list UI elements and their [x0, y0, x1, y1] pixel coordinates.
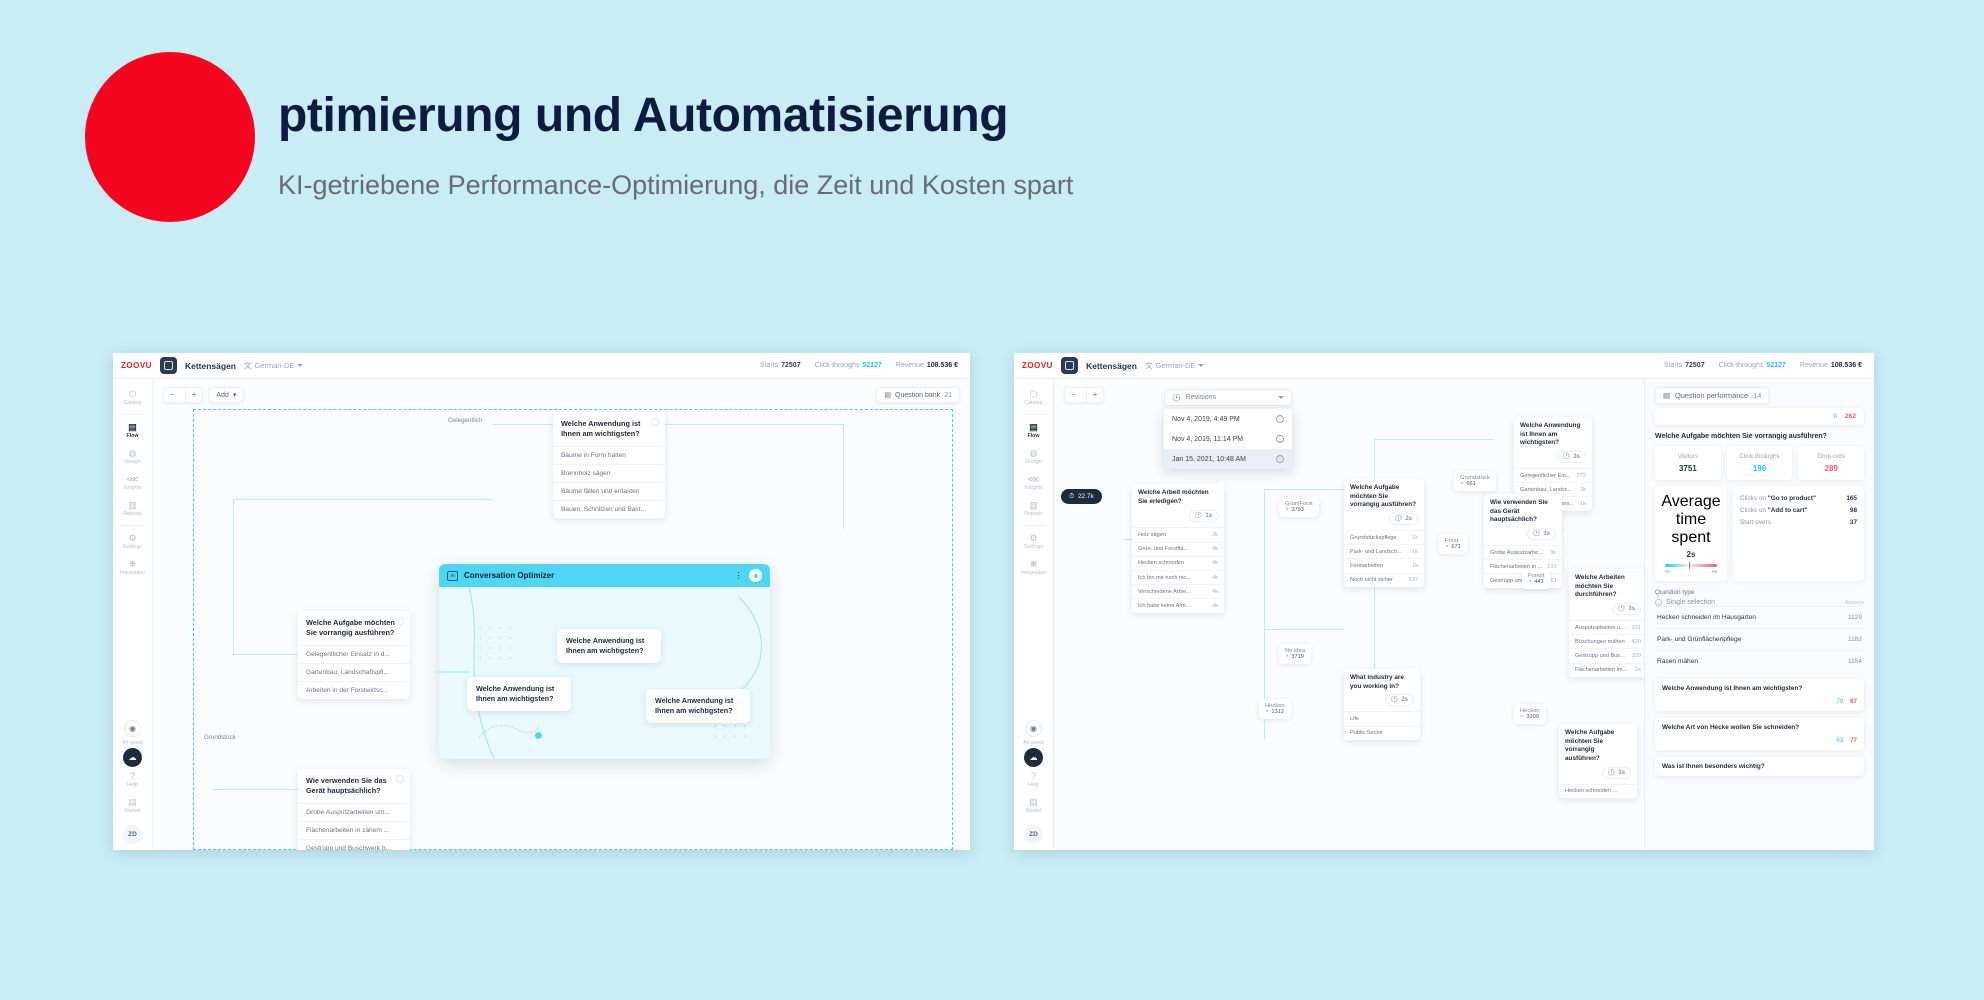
answer-row[interactable]: Bäume in Form halten [553, 446, 665, 464]
canvas-toolbar: − + Add ▾ [163, 387, 243, 403]
user-icon: ◔ [1460, 481, 1463, 487]
revision-item[interactable]: Nov 4, 2019, 4:49 PM i [1164, 409, 1292, 429]
sidebar-item-flow[interactable]: ▤ Flow [113, 418, 152, 444]
connector [493, 424, 843, 425]
answer-row[interactable]: Flächenarbeiten im...1k [1569, 663, 1647, 677]
answer-row[interactable]: Life [1344, 711, 1420, 725]
page-title: ptimierung und Automatisierung [278, 88, 1008, 143]
flow-node-grundstueck[interactable]: Grundstück ◔661 [1454, 471, 1496, 491]
answer-row[interactable]: Arbeiten in der Forstwirtsc... [298, 681, 410, 699]
sidebar-item-reports[interactable]: ▥ Reports [113, 496, 152, 522]
eye-icon: ◉ [129, 724, 136, 733]
question-performance-summary: 0 262 [1655, 408, 1864, 425]
time-badge: 🕐2s [1385, 694, 1414, 706]
sidebar-divider [1022, 414, 1046, 415]
conversation-optimizer-body: Welche Anwendung ist Ihnen am wichtigste… [439, 587, 770, 759]
conversation-optimizer-title: Conversation Optimizer [464, 571, 554, 580]
project-name: Kettensägen [1086, 361, 1137, 371]
user-icon: ◔ [1285, 507, 1288, 513]
conversation-optimizer-panel[interactable]: AI Conversation Optimizer ⋮ [439, 564, 770, 759]
answer-row[interactable]: Gestrüpp und Bus...320 [1569, 648, 1647, 662]
radio-icon [1655, 599, 1662, 606]
revisions-dropdown[interactable]: 🕐 Revisions Nov 4, 2019, 4:49 PM i Nov 4… [1164, 389, 1292, 469]
topbar-metrics: Starts72507 Click-throughs52127 Revenue1… [760, 362, 962, 369]
answer-row[interactable]: Gartenbau, Landschaftspfl... [298, 663, 410, 681]
left-sidebar: ⬡ Catalog ▤ Flow ◍ Design ⋘ Insights ▥ [113, 379, 153, 850]
chevron-down-icon [297, 364, 303, 367]
question-perf-card[interactable]: Welche Anwendung ist Ihnen am wichtigste… [1655, 679, 1864, 711]
sidebar-item-catalog[interactable]: ⬡ Catalog [1014, 385, 1053, 411]
click-row: Clicks on "Add to cart" 98 [1740, 504, 1857, 516]
flow-card-arbeiten[interactable]: Welche Arbeiten möchten Sie durchführen?… [1569, 569, 1647, 677]
zoom-in-button[interactable]: + [1086, 387, 1104, 403]
page-subtitle: KI-getriebene Performance-Optimierung, d… [278, 170, 1073, 201]
answers-column-header: Answers [1845, 600, 1864, 606]
language-label: German-DE [1155, 361, 1195, 370]
question-performance-button[interactable]: ▤ Question performance 14 [1655, 387, 1769, 404]
question-bank-icon: ▤ [884, 391, 891, 399]
user-icon: ◔ [1528, 579, 1531, 585]
answer-row[interactable]: Bauen, Schnitzen und Bast... [553, 500, 665, 518]
translate-icon: ⽂ [1145, 360, 1153, 371]
zoom-in-button[interactable]: + [185, 387, 203, 403]
language-selector[interactable]: ⽂ German-DE [1145, 360, 1205, 371]
design-icon: ◍ [129, 449, 137, 458]
language-selector[interactable]: ⽂ German-DE [244, 360, 304, 371]
card-status-dot [396, 617, 404, 625]
kpi-average-time: Average time spent 2s 0s 6s [1655, 486, 1727, 581]
flow-node-hecken-1[interactable]: Hecken ◔1312 [1259, 699, 1291, 719]
info-icon[interactable]: i [1276, 415, 1284, 423]
flow-node-gruen-forst[interactable]: Grün/Forst ◔3793 [1279, 497, 1319, 517]
sidebar-divider [121, 414, 145, 415]
sidebar-item-settings[interactable]: ⚙ Settings [1014, 529, 1053, 555]
revision-item-selected[interactable]: Jan 15, 2021, 10:48 AM i [1164, 449, 1292, 469]
preview-button[interactable]: ◉ [124, 720, 141, 737]
flow-node-forest[interactable]: Forest ◔441 [1522, 569, 1550, 589]
time-chip: ⏱ 22.7k [1061, 489, 1102, 504]
cloud-icon: ☁ [1029, 753, 1037, 762]
integration-icon: ❋ [129, 560, 137, 569]
flow-node-forst[interactable]: Forst ◔671 [1439, 534, 1467, 554]
answer-row[interactable]: Ausputzarbeiten u...331 [1569, 620, 1647, 634]
zoom-out-button[interactable]: − [1065, 387, 1082, 403]
flow-card-aufgabe[interactable]: Welche Aufgabe möchten Sie vorrangig aus… [298, 611, 410, 699]
clock-icon: 🕐 [1608, 769, 1615, 777]
answer-row[interactable]: Brennholz sägen [553, 464, 665, 482]
revisions-list: Nov 4, 2019, 4:49 PM i Nov 4, 2019, 11:1… [1164, 409, 1292, 469]
conversation-optimizer-header: AI Conversation Optimizer ⋮ [439, 564, 770, 587]
zoom-controls: − + [163, 387, 203, 403]
question-perf-card[interactable]: Was ist Ihnen besonders wichtig? [1655, 757, 1864, 776]
question-performance-icon: ▤ [1663, 391, 1670, 400]
add-button[interactable]: Add ▾ [209, 387, 243, 403]
card-status-dot [651, 418, 659, 426]
metric-revenue: Revenue108.536 € [896, 362, 958, 369]
language-label: German-DE [254, 361, 294, 370]
user-icon: ◔ [1285, 654, 1288, 660]
connector [1264, 629, 1344, 630]
info-icon[interactable]: i [1276, 455, 1284, 463]
flow-card-geraet[interactable]: Wie verwenden Sie das Gerät hauptsächlic… [298, 769, 410, 850]
sidebar-item-help[interactable]: ? Help [122, 767, 142, 793]
answer-row[interactable]: Grün- und Forstflä...4k [1132, 542, 1224, 556]
question-bank-button[interactable]: ▤ Question bank 21 [876, 387, 960, 403]
zoovu-logo: ZOOVU [121, 361, 152, 370]
sidebar-bottom-group-2: ◉ All saved ☁ ? Help ▤ Market ZD [1023, 720, 1043, 850]
zoom-out-button[interactable]: − [164, 387, 181, 403]
single-selection-value: Single selection [1655, 599, 1715, 606]
chevron-down-icon: ▾ [233, 391, 237, 399]
card-status-dot [396, 775, 404, 783]
chevron-down-icon [1198, 364, 1204, 367]
time-badge: 🕐1s [1189, 510, 1218, 522]
save-cloud-button[interactable]: ☁ [1024, 748, 1043, 767]
zoom-controls: − + [1064, 387, 1104, 403]
insights-canvas[interactable]: − + 🕐 Revisions Nov 4, 2019, 4:49 PM [1054, 379, 1874, 850]
clock-icon: 🕐 [1395, 515, 1402, 523]
sidebar-item-market[interactable]: ▤ Market [1023, 793, 1043, 819]
clock-icon: 🕐 [1618, 605, 1625, 613]
market-icon: ▤ [1029, 798, 1038, 807]
optimizer-bubble[interactable]: Welche Anwendung ist Ihnen am wichtigste… [467, 677, 571, 711]
answer-row[interactable]: Noch nicht sicher637 [1344, 573, 1424, 587]
question-perf-card[interactable]: Welche Art von Hecke wollen Sie schneide… [1655, 718, 1864, 750]
answer-row[interactable]: Forstarbeiten1k [1344, 558, 1424, 572]
time-badge: 🕐2s [1389, 513, 1418, 525]
eye-icon: ◉ [1030, 724, 1037, 733]
save-status-label: All saved [1023, 740, 1043, 746]
click-row: Start overs 37 [1740, 516, 1857, 528]
time-badge: 🕐3s [1612, 603, 1641, 615]
answer-row[interactable]: Grundstückspflege1k [1344, 530, 1424, 544]
kpi-click-throughs: Click-throughs 196 [1727, 446, 1793, 480]
answer-row[interactable]: Ich bin mir noch nic...4k [1132, 570, 1224, 584]
chevron-down-icon [1278, 396, 1284, 399]
click-row: Clicks on "Go to product" 165 [1740, 492, 1857, 504]
answer-row[interactable]: Böschungen mähen420 [1569, 634, 1647, 648]
answer-row[interactable]: Hecken schneiden ... [1559, 784, 1637, 798]
user-avatar[interactable]: ZD [123, 825, 142, 844]
clock-icon: 🕐 [1563, 453, 1570, 461]
topbar-metrics: Starts72507 Click-throughs52127 Revenue1… [1664, 362, 1866, 369]
edge-label-gelegentlich: Gelegentlich [445, 417, 485, 424]
insights-icon: ⋘ [126, 475, 139, 484]
kpi-drop-outs: Drop-outs 289 [1798, 446, 1864, 480]
screenshot-panel-flow-editor: ZOOVU Kettensägen ⽂ German-DE Starts7250… [113, 353, 970, 850]
edge-label-grundstueck: Grundstück [201, 734, 239, 741]
reports-icon: ▥ [128, 501, 137, 510]
secondary-kpi-row: Average time spent 2s 0s 6s Clicks on "G… [1655, 486, 1864, 581]
sidebar-item-insights[interactable]: ⋘ Insights [113, 470, 152, 496]
answer-row[interactable]: Holz sägen3k [1132, 527, 1224, 541]
connector [233, 499, 234, 654]
kpi-row: Visitors 3751 Click-throughs 196 Drop-ou… [1655, 446, 1864, 480]
user-icon: ◔ [1520, 714, 1523, 720]
gear-icon: ⚙ [1029, 534, 1037, 543]
sidebar-item-help[interactable]: ? Help [1023, 767, 1043, 793]
market-icon: ▤ [128, 798, 137, 807]
sidebar-item-integration[interactable]: ❋ Integration [113, 555, 152, 581]
revision-item[interactable]: Nov 4, 2019, 11:14 PM i [1164, 429, 1292, 449]
catalog-icon: ⬡ [129, 390, 137, 399]
metric-starts: Starts72507 [1664, 362, 1705, 369]
metric-click-throughs: Click-throughs52127 [815, 362, 882, 369]
flow-card-welche-arbeit[interactable]: Welche Arbeit möchten Sie erledigen? 🕐1s… [1132, 484, 1224, 613]
question-type-label: Question type [1655, 589, 1864, 596]
answer-row[interactable]: Gelegentlicher Ein...272 [1514, 468, 1592, 482]
answer-row[interactable]: Grobe Ausputzarbe...3k [1484, 545, 1562, 559]
app-topbar-2: ZOOVU Kettensägen ⽂ German-DE Starts7250… [1014, 353, 1874, 379]
zoovu-logo: ZOOVU [1022, 361, 1053, 370]
answer-stat-row[interactable]: Park- und Grünflächenpflege 1182 [1655, 628, 1864, 650]
connector [233, 499, 493, 500]
flow-endpoint-dot [535, 732, 542, 739]
gear-icon: ⚙ [128, 534, 136, 543]
page-root: ptimierung und Automatisierung KI-getrie… [0, 0, 1984, 1000]
flow-card-anwendung[interactable]: Welche Anwendung ist Ihnen am wichtigste… [553, 412, 665, 518]
flow-canvas[interactable]: − + Add ▾ ▤ Question bank 21 [153, 379, 970, 850]
screenshot-panel-insights: ZOOVU Kettensägen ⽂ German-DE Starts7250… [1014, 353, 1874, 850]
answer-row[interactable]: Verschiedene Arbei...4k [1132, 584, 1224, 598]
save-status-label: All saved [122, 740, 142, 746]
answer-row[interactable]: Gelegentlicher Einsatz in d... [298, 645, 410, 663]
answer-row[interactable]: Park- und Landsch...1k [1344, 544, 1424, 558]
sidebar-item-flow[interactable]: ▤ Flow [1014, 418, 1053, 444]
sidebar-divider-2 [121, 525, 145, 526]
flow-card-aufgabe-2[interactable]: Welche Aufgabe möchten Sie vorrangig aus… [1344, 479, 1424, 587]
preview-button[interactable]: ◉ [1025, 720, 1042, 737]
sidebar-divider-2 [1022, 525, 1046, 526]
metric-revenue: Revenue108.536 € [1800, 362, 1862, 369]
answer-stat-row[interactable]: Rasen mähen 1154 [1655, 650, 1864, 672]
canvas-toolbar-2: − + [1064, 387, 1104, 403]
flow-card-aufgabe-3[interactable]: Welche Aufgabe möchten Sie vorrangig aus… [1559, 724, 1637, 798]
hero-circle-decoration [85, 52, 255, 222]
answer-row[interactable]: Bäume fällen und entasten [553, 482, 665, 500]
user-avatar[interactable]: ZD [1024, 825, 1043, 844]
translate-icon: ⽂ [244, 360, 252, 371]
time-badge: 🕐3s [1527, 528, 1556, 540]
project-name: Kettensägen [185, 361, 236, 371]
sidebar-item-insights[interactable]: ⋘ Insights [1014, 470, 1053, 496]
clock-icon: 🕐 [1195, 512, 1202, 520]
metric-click-throughs: Click-throughs52127 [1719, 362, 1786, 369]
flow-icon: ▤ [128, 423, 137, 432]
sidebar-item-integration[interactable]: ❋ Integration [1014, 555, 1053, 581]
optimizer-bubble[interactable]: Welche Anwendung ist Ihnen am wichtigste… [557, 629, 661, 663]
flow-node-no-idea[interactable]: No idea ◔3719 [1279, 644, 1311, 664]
design-icon: ◍ [1030, 449, 1038, 458]
help-icon: ? [1031, 772, 1036, 781]
help-icon: ? [130, 772, 135, 781]
answer-row[interactable]: Flächenarbeiten in zähem ... [298, 821, 410, 839]
app-topbar: ZOOVU Kettensägen ⽂ German-DE Starts7250… [113, 353, 970, 379]
metric-starts: Starts72507 [760, 362, 801, 369]
answer-row[interactable]: Public Sector [1344, 726, 1420, 740]
clock-icon: 🕐 [1533, 530, 1540, 538]
question-type-row: Single selection Answers [1655, 599, 1864, 606]
optimizer-bubble[interactable]: Welche Anwendung ist Ihnen am wichtigste… [646, 689, 750, 723]
play-icon[interactable] [749, 569, 762, 582]
integration-icon: ❋ [1030, 560, 1038, 569]
kpi-visitors: Visitors 3751 [1655, 446, 1721, 480]
reports-icon: ▥ [1029, 501, 1038, 510]
clock-icon: ⏱ [1069, 493, 1074, 501]
clock-icon: 🕐 [1391, 696, 1398, 704]
cloud-icon: ☁ [128, 753, 136, 762]
user-icon: ◔ [1265, 709, 1268, 715]
time-badge: 🕐3s [1602, 767, 1631, 779]
sidebar-item-market[interactable]: ▤ Market [122, 793, 142, 819]
connector [843, 424, 844, 529]
dot-pattern-left [477, 625, 527, 670]
sidebar-item-design[interactable]: ◍ Design [1014, 444, 1053, 470]
app-body-2: ⬡ Catalog ▤ Flow ◍ Design ⋘ Insights ▥ [1014, 379, 1874, 850]
kebab-menu-icon[interactable]: ⋮ [735, 572, 744, 580]
selected-question-title: Welche Aufgabe möchten Sie vorrangig aus… [1655, 433, 1864, 440]
question-performance-sidepanel: ▤ Question performance 14 0 262 Welche A… [1644, 379, 1874, 850]
answer-row[interactable]: Ich habe keine Ahn...4k [1132, 598, 1224, 612]
left-sidebar-2: ⬡ Catalog ▤ Flow ◍ Design ⋘ Insights ▥ [1014, 379, 1054, 850]
flow-icon: ▤ [1029, 423, 1038, 432]
time-gauge [1665, 564, 1717, 567]
answer-stat-row[interactable]: Hecken schneiden im Hausgarten 1129 [1655, 606, 1864, 628]
sidebar-item-reports[interactable]: ▥ Reports [1014, 496, 1053, 522]
answer-row[interactable]: Hecken schneiden4k [1132, 556, 1224, 570]
catalog-icon: ⬡ [1030, 390, 1038, 399]
sidebar-item-catalog[interactable]: ⬡ Catalog [113, 385, 152, 411]
save-cloud-button[interactable]: ☁ [123, 748, 142, 767]
sidebar-bottom-group: ◉ All saved ☁ ? Help ▤ Market ZD [122, 720, 142, 850]
flow-card-industry[interactable]: What industry are you working in? 🕐2s Li… [1344, 669, 1420, 740]
project-thumbnail-icon [160, 357, 177, 374]
ai-icon: AI [447, 571, 458, 581]
time-badge: 🕐3s [1557, 451, 1586, 463]
app-body: ⬡ Catalog ▤ Flow ◍ Design ⋘ Insights ▥ [113, 379, 970, 850]
answer-row[interactable]: Gestrüpp und Buschwerk b... [298, 839, 410, 850]
user-icon: ◔ [1445, 544, 1448, 550]
flow-node-hecken-2[interactable]: Hecken ◔3209 [1514, 704, 1546, 724]
clock-icon: 🕐 [1172, 394, 1181, 402]
project-thumbnail-icon [1061, 357, 1078, 374]
sidebar-item-settings[interactable]: ⚙ Settings [113, 529, 152, 555]
answer-row[interactable]: Grobe Ausputzarbeiten um... [298, 803, 410, 821]
insights-icon: ⋘ [1027, 475, 1040, 484]
info-icon[interactable]: i [1276, 435, 1284, 443]
click-breakdown: Clicks on "Go to product" 165 Clicks on … [1733, 486, 1864, 581]
connector [1374, 439, 1494, 440]
revisions-button[interactable]: 🕐 Revisions [1164, 389, 1292, 406]
sidebar-item-design[interactable]: ◍ Design [113, 444, 152, 470]
